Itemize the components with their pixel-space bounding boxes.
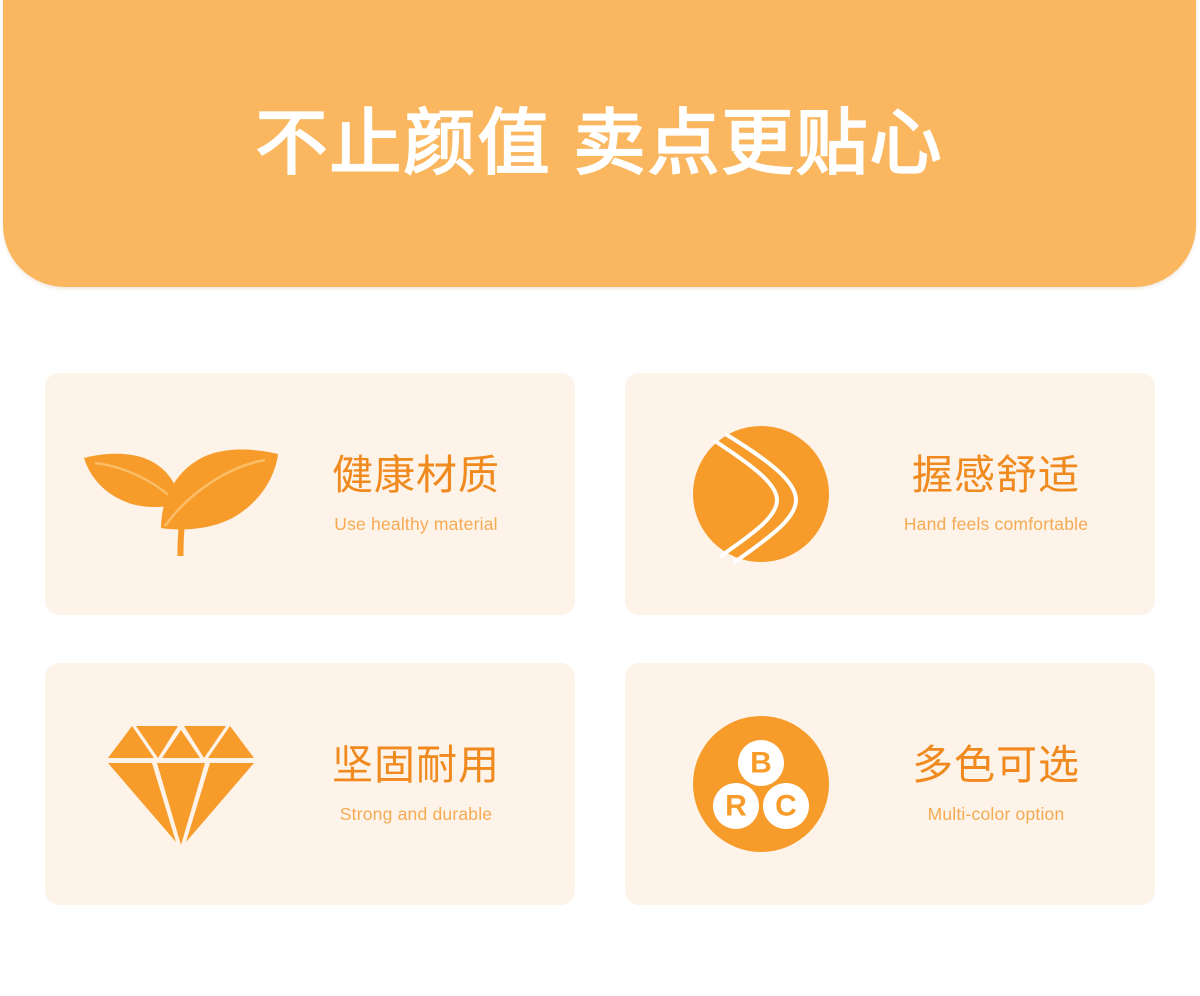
feature-card-text: 健康材质 Use healthy material — [285, 453, 565, 536]
feature-card-text: 握感舒适 Hand feels comfortable — [865, 453, 1145, 536]
swatch-letter-r: R — [725, 790, 747, 823]
multicolor-brc-circle-icon: B R C — [657, 709, 865, 859]
sprout-leaves-icon — [77, 419, 285, 569]
feature-card-subtitle: Use healthy material — [334, 514, 498, 535]
feature-card-subtitle: Multi-color option — [928, 804, 1065, 825]
feature-card-subtitle: Hand feels comfortable — [904, 514, 1088, 535]
banner-title: 不止颜值 卖点更贴心 — [255, 108, 943, 180]
feature-card-comfortable-grip[interactable]: 握感舒适 Hand feels comfortable — [625, 373, 1155, 615]
diamond-icon — [77, 709, 285, 859]
feature-card-title: 握感舒适 — [912, 453, 1080, 499]
swatch-letter-b: B — [750, 747, 772, 780]
feature-card-strong-durable[interactable]: 坚固耐用 Strong and durable — [45, 663, 575, 905]
feature-cards-grid: 健康材质 Use healthy material 握感舒适 Hand feel… — [45, 373, 1155, 905]
feature-card-title: 多色可选 — [912, 743, 1080, 789]
feature-card-text: 坚固耐用 Strong and durable — [285, 743, 565, 826]
feature-card-subtitle: Strong and durable — [340, 804, 492, 825]
feature-card-multicolor[interactable]: B R C 多色可选 Multi-color option — [625, 663, 1155, 905]
swatch-letter-c: C — [775, 790, 797, 823]
header-banner: 不止颜值 卖点更贴心 — [3, 0, 1196, 287]
feature-card-text: 多色可选 Multi-color option — [865, 743, 1145, 826]
feature-card-healthy-material[interactable]: 健康材质 Use healthy material — [45, 373, 575, 615]
grip-circle-icon — [657, 419, 865, 569]
feature-card-title: 健康材质 — [332, 453, 500, 499]
feature-card-title: 坚固耐用 — [332, 743, 500, 789]
